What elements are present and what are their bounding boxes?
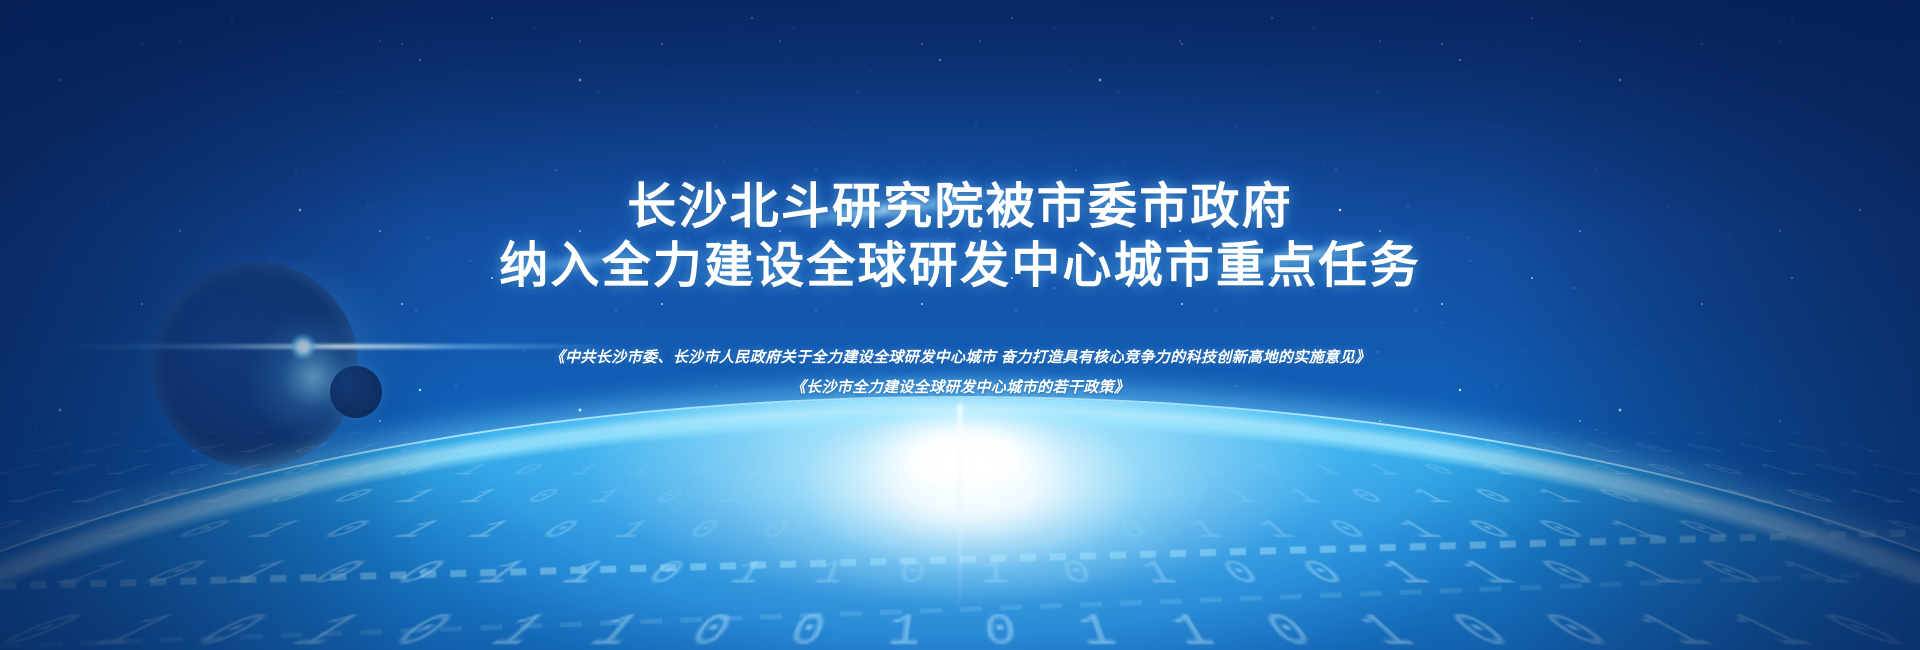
central-light-core xyxy=(840,398,1090,518)
central-light-ray xyxy=(958,404,962,614)
planet-rim-icon xyxy=(152,262,358,468)
data-track-dashed-secondary xyxy=(1,570,1920,649)
title-light-streak-left xyxy=(742,178,1043,240)
starfield-layer-medium xyxy=(0,0,1920,650)
starfield-layer-bright xyxy=(0,0,1920,650)
news-banner: 1 0 1 0 0 1 1 0 1 0 1 1 0 0 1 0 1 0 1 1 … xyxy=(0,0,1920,650)
banner-title: 长沙北斗研究院被市委市政府 纳入全力建设全球研发中心城市重点任务 xyxy=(499,178,1421,296)
banner-subtitles: 《中共长沙市委、长沙市人民政府关于全力建设全球研发中心城市 奋力打造具有核心竞争… xyxy=(550,343,1371,403)
banner-subtitle-2: 《长沙市全力建设全球研发中心城市的若干政策》 xyxy=(550,373,1371,403)
binary-data-texture: 1 0 1 0 0 1 1 0 1 0 1 1 0 0 1 0 1 0 1 1 … xyxy=(0,432,1920,650)
central-glow-wide xyxy=(300,330,1640,630)
banner-subtitle-1: 《中共长沙市委、长沙市人民政府关于全力建设全球研发中心城市 奋力打造具有核心竞争… xyxy=(550,343,1371,373)
binary-rows: 1 0 1 0 0 1 1 0 1 0 1 1 0 0 1 0 1 0 1 1 … xyxy=(0,432,1920,650)
lens-flare-core-icon xyxy=(290,334,316,360)
planet-icon xyxy=(152,262,358,468)
title-light-streak-right xyxy=(1180,229,1421,284)
starfield-layer-small xyxy=(0,0,1920,650)
data-track-dashed xyxy=(0,529,1919,590)
central-light-burst xyxy=(660,300,1280,620)
hexagon-mesh xyxy=(560,440,1380,590)
banner-title-line-1: 长沙北斗研究院被市委市政府 xyxy=(499,178,1421,237)
banner-content: 长沙北斗研究院被市委市政府 纳入全力建设全球研发中心城市重点任务 《中共长沙市委… xyxy=(0,0,1920,650)
vignette-overlay xyxy=(0,0,1920,650)
top-shade-overlay xyxy=(0,0,1920,230)
star-cluster-speckle xyxy=(0,250,600,650)
moon-icon xyxy=(330,366,382,418)
atmosphere-haze xyxy=(0,372,1920,650)
atmosphere-rim xyxy=(0,398,1920,650)
title-light-streak-lower xyxy=(462,240,693,284)
planet-glow xyxy=(206,252,406,452)
banner-title-line-2: 纳入全力建设全球研发中心城市重点任务 xyxy=(499,237,1421,296)
earth-horizon xyxy=(0,398,1920,650)
lens-flare-streak-icon xyxy=(40,344,620,349)
